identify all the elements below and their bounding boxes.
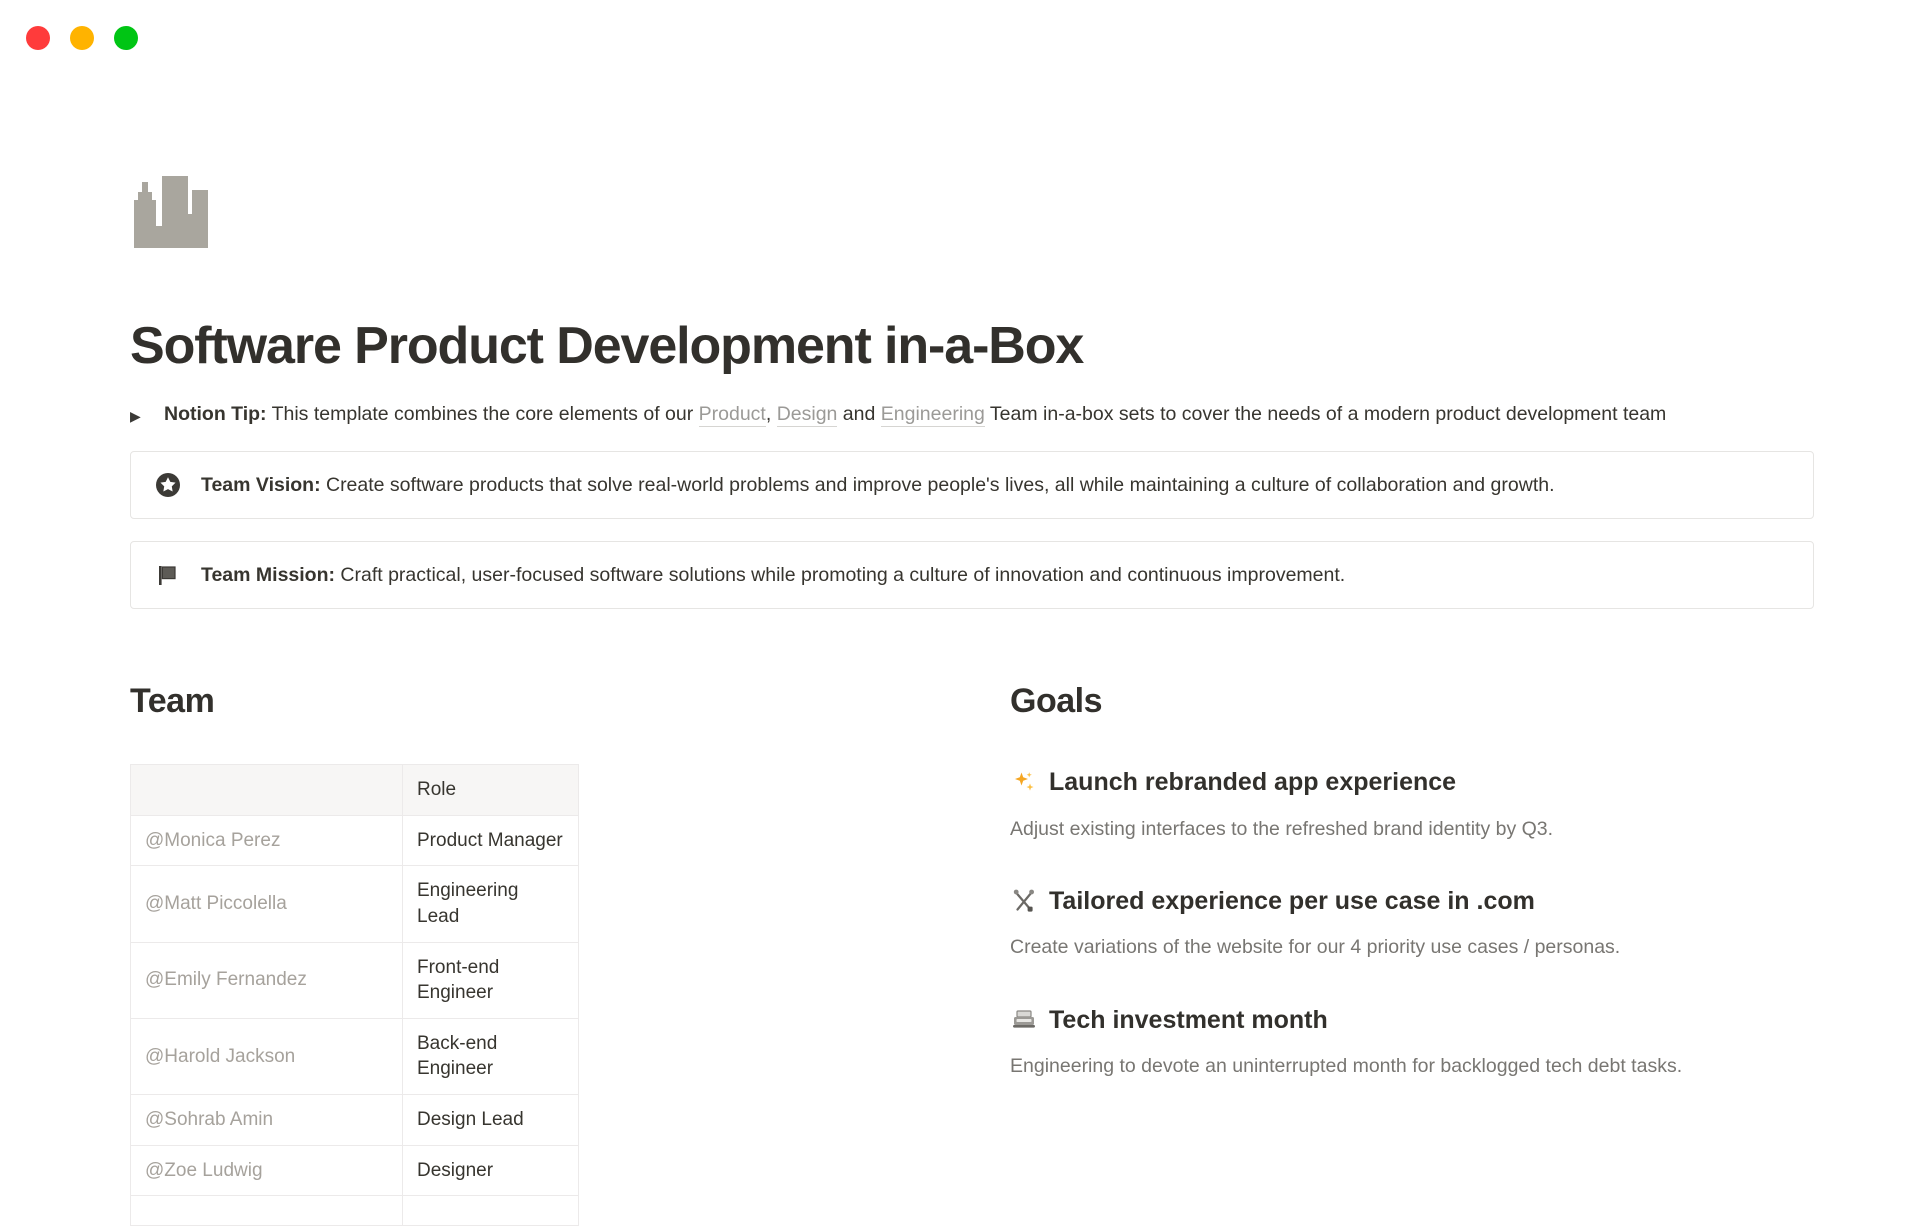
cell-role[interactable]: Back-end Engineer: [403, 1018, 579, 1094]
notion-tip-text: Notion Tip: This template combines the c…: [164, 399, 1666, 429]
goal-title: Tech investment month: [1049, 1004, 1328, 1037]
goal-item: Tailored experience per use case in .com…: [1010, 885, 1820, 962]
goal-title: Launch rebranded app experience: [1049, 766, 1456, 799]
callout-mission-label: Team Mission:: [201, 564, 335, 586]
table-row[interactable]: @Zoe Ludwig Designer: [131, 1145, 579, 1196]
goal-title-row: Tailored experience per use case in .com: [1010, 885, 1820, 918]
table-row[interactable]: @Harold Jackson Back-end Engineer: [131, 1018, 579, 1094]
factory-icon[interactable]: [130, 170, 214, 252]
link-product[interactable]: Product: [699, 403, 766, 427]
flag-icon: [153, 560, 183, 590]
two-column-layout: Team Role @Monica Perez Product Manager: [130, 681, 1820, 1226]
callout-team-vision: Team Vision: Create software products th…: [130, 451, 1814, 519]
table-row[interactable]: @Monica Perez Product Manager: [131, 815, 579, 866]
cell-role[interactable]: Product Manager: [403, 815, 579, 866]
cell-role-empty[interactable]: [403, 1196, 579, 1226]
cell-person[interactable]: @Matt Piccolella: [131, 866, 403, 942]
callout-vision-label: Team Vision:: [201, 474, 321, 496]
tip-sep-and: and: [837, 403, 880, 425]
column-header-name[interactable]: [131, 765, 403, 816]
sparkles-icon: [1010, 768, 1038, 796]
cell-person[interactable]: @Emily Fernandez: [131, 942, 403, 1018]
page-title: Software Product Development in-a-Box: [130, 318, 1820, 375]
goal-title-row: Tech investment month: [1010, 1004, 1820, 1037]
cell-person[interactable]: @Monica Perez: [131, 815, 403, 866]
link-engineering[interactable]: Engineering: [881, 403, 985, 427]
close-button[interactable]: [26, 26, 50, 50]
window-titlebar: [0, 0, 1920, 74]
column-header-role[interactable]: Role: [403, 765, 579, 816]
goal-description: Create variations of the website for our…: [1010, 933, 1820, 961]
cell-person[interactable]: @Zoe Ludwig: [131, 1145, 403, 1196]
laptop-icon: [1010, 1006, 1038, 1034]
cell-role[interactable]: Front-end Engineer: [403, 942, 579, 1018]
maximize-button[interactable]: [114, 26, 138, 50]
table-row[interactable]: @Sohrab Amin Design Lead: [131, 1095, 579, 1146]
goal-description: Adjust existing interfaces to the refres…: [1010, 815, 1820, 843]
callout-vision-text: Team Vision: Create software products th…: [201, 471, 1555, 500]
goal-title: Tailored experience per use case in .com: [1049, 885, 1535, 918]
cell-person[interactable]: @Sohrab Amin: [131, 1095, 403, 1146]
cell-person[interactable]: @Harold Jackson: [131, 1018, 403, 1094]
document-page: Software Product Development in-a-Box ▶ …: [0, 74, 1920, 1200]
team-heading: Team: [130, 681, 1010, 722]
chevron-right-icon[interactable]: ▶: [130, 409, 150, 423]
goal-item: Launch rebranded app experience Adjust e…: [1010, 766, 1820, 843]
cell-role[interactable]: Design Lead: [403, 1095, 579, 1146]
goals-column: Goals Launch rebranded app experience: [1010, 681, 1820, 1226]
table-row[interactable]: @Matt Piccolella Engineering Lead: [131, 866, 579, 942]
goals-list: Launch rebranded app experience Adjust e…: [1010, 766, 1820, 1080]
goal-description: Engineering to devote an uninterrupted m…: [1010, 1052, 1820, 1080]
star-circle-icon: [153, 470, 183, 500]
traffic-light-group: [26, 26, 138, 50]
page-content: Software Product Development in-a-Box ▶ …: [130, 170, 1820, 1226]
notion-tip-label: Notion Tip:: [164, 403, 267, 425]
callout-team-mission: Team Mission: Craft practical, user-focu…: [130, 541, 1814, 609]
goal-title-row: Launch rebranded app experience: [1010, 766, 1820, 799]
cell-role[interactable]: Engineering Lead: [403, 866, 579, 942]
callout-mission-text: Team Mission: Craft practical, user-focu…: [201, 561, 1345, 590]
team-table: Role @Monica Perez Product Manager @Matt…: [130, 764, 579, 1226]
team-column: Team Role @Monica Perez Product Manager: [130, 681, 1010, 1226]
cell-person-empty[interactable]: [131, 1196, 403, 1226]
notion-tip-toggle[interactable]: ▶ Notion Tip: This template combines the…: [130, 399, 1690, 429]
callout-mission-body: Craft practical, user-focused software s…: [335, 564, 1345, 586]
table-row-empty[interactable]: [131, 1196, 579, 1226]
hammer-and-wrench-icon: [1010, 887, 1038, 915]
goals-heading: Goals: [1010, 681, 1820, 722]
tip-text-before: This template combines the core elements…: [267, 403, 699, 425]
link-design[interactable]: Design: [777, 403, 838, 427]
minimize-button[interactable]: [70, 26, 94, 50]
tip-text-after: Team in-a-box sets to cover the needs of…: [985, 403, 1666, 425]
goal-item: Tech investment month Engineering to dev…: [1010, 1004, 1820, 1081]
tip-sep-comma: ,: [766, 403, 777, 425]
table-row[interactable]: @Emily Fernandez Front-end Engineer: [131, 942, 579, 1018]
cell-role[interactable]: Designer: [403, 1145, 579, 1196]
callout-vision-body: Create software products that solve real…: [321, 474, 1555, 496]
table-header-row: Role: [131, 765, 579, 816]
